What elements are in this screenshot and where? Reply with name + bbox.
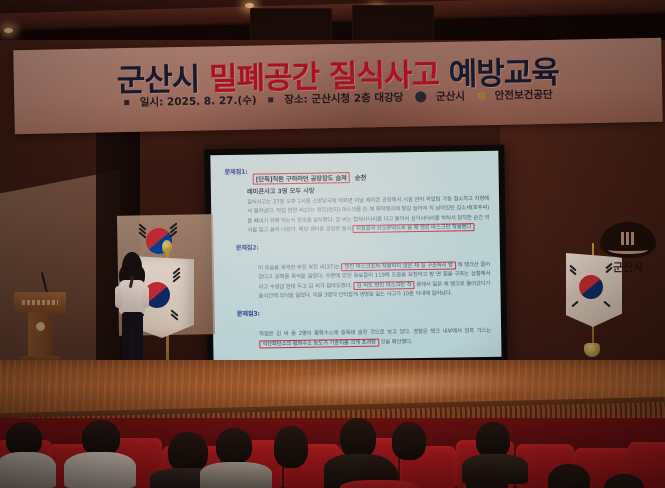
section-2-body: 이 모습을 목격한 부장 부모 씨(37)는 방진 마스크조차 착용하지 않은 … xyxy=(258,261,491,302)
audience-member xyxy=(548,464,590,488)
event-banner: 군산시 밀폐공간 질식사고 예방교육 일시: 2025. 8. 27.(수) 장… xyxy=(13,38,662,134)
presenter-arm-right xyxy=(142,286,149,308)
audience-member xyxy=(6,422,42,456)
audience-seating xyxy=(0,418,665,488)
ceiling-speaker xyxy=(352,5,434,45)
slide-section-1: 문제점1: [단독]직원 구하려던 공장장도 숨져 순천 레미콘사고 3명 모두… xyxy=(225,163,490,236)
section-1-headline-tail: 순천 xyxy=(355,173,366,182)
audience-member xyxy=(476,422,510,458)
banner-place-bullet xyxy=(268,94,276,106)
audience-member xyxy=(340,418,376,458)
banner-date: 일시: 2025. 8. 27.(수) xyxy=(140,95,257,109)
ceiling-light xyxy=(4,28,13,33)
presentation-slide: 문제점1: [단독]직원 구하려던 공장장도 숨져 순천 레미콘사고 3명 모두… xyxy=(210,151,501,361)
audience-member xyxy=(274,426,308,468)
kosha-logo-icon: ✲ xyxy=(477,89,487,103)
section-1-label: 문제점1: xyxy=(225,167,248,176)
banner-date-bullet xyxy=(124,97,132,109)
gunsan-logo-wave-icon xyxy=(608,246,648,254)
presenter-arm-left xyxy=(115,286,122,308)
audience-member-shoulders xyxy=(340,480,418,488)
podium-top xyxy=(14,292,66,314)
audience-member xyxy=(82,420,120,456)
banner-org-2: 안전보건공단 xyxy=(495,89,553,102)
section-2-body-highlight-2: 김 씨도 방진 마스크만 착 xyxy=(354,281,415,290)
audience-member xyxy=(466,466,508,488)
gunsan-city-wall-logo: 군산시 xyxy=(600,222,656,278)
section-3-body-pre: 작업은 김 씨 등 2명이 황화수소에 중독돼 숨진 것으로 보고 있다. 경찰… xyxy=(259,328,491,338)
section-2-body-highlight-1: 방진 마스크조차 착용하지 않은 채 질 구조하시 방 xyxy=(342,262,457,272)
banner-org-1: 군산시 xyxy=(436,91,465,104)
banner-place: 장소: 군산시청 2층 대강당 xyxy=(284,92,403,106)
podium-column xyxy=(28,312,52,358)
audience-member xyxy=(392,422,426,460)
seminar-photo: 군산시 밀폐공간 질식사고 예방교육 일시: 2025. 8. 27.(수) 장… xyxy=(0,0,665,488)
section-2-label: 문제점2: xyxy=(236,243,259,252)
presenter xyxy=(112,252,152,364)
section-1-body-highlight: 위험물과 산소부약으로 쓸 때 맹진 마스크만 착용했다 xyxy=(353,223,474,233)
gunsan-logo-bars-icon xyxy=(621,232,635,245)
section-3-body-post: 것을 확인했다. xyxy=(380,339,412,346)
section-2-body-pre: 이 모습을 목격한 부장 부모 씨(37)는 xyxy=(258,264,340,271)
projection-screen: 문제점1: [단독]직원 구하려던 공장장도 숨져 순천 레미콘사고 3명 모두… xyxy=(210,151,501,361)
gunsan-logo-label: 군산시 xyxy=(600,259,656,275)
slide-section-2: 문제점2: 이 모습을 목격한 부장 부모 씨(37)는 방진 마스크조차 착용… xyxy=(226,239,491,302)
projection-screen-frame: 문제점1: [단독]직원 구하려던 공장장도 숨져 순천 레미콘사고 3명 모두… xyxy=(204,145,508,376)
audience-member-shoulders xyxy=(64,452,136,488)
podium-emblem-icon xyxy=(36,322,45,331)
podium-inscription xyxy=(22,300,58,305)
audience-member xyxy=(168,432,208,472)
gunsan-logo-icon xyxy=(415,91,428,103)
section-1-headline-boxed: [단독]직원 구하려던 공장장도 숨져 xyxy=(253,172,350,185)
section-3-body: 작업은 김 씨 등 2명이 황화수소에 중독돼 숨진 것으로 보고 있다. 경찰… xyxy=(259,327,491,349)
podium xyxy=(14,292,66,370)
section-1-body: 질식사고는 27일 오후 1시를 소방당국에 따르면 이날 레미콘 공장에서 시… xyxy=(247,195,490,236)
audience-member-shoulders xyxy=(200,462,272,488)
audience-member-shoulders xyxy=(0,452,56,488)
slide-section-3: 문제점3: 작업은 김 씨 등 2명이 황화수소에 중독돼 숨진 것으로 보고 … xyxy=(227,305,492,350)
section-3-label: 문제점3: xyxy=(237,309,260,318)
section-3-body-highlight: 석산화탄소의 황화수소 농도가 기준치를 크게 초과한 xyxy=(259,338,379,348)
section-1-subhead: 레미콘사고 3명 모두 사망 xyxy=(247,183,489,196)
audience-member xyxy=(216,428,252,464)
presenter-leg-gap xyxy=(132,326,134,360)
